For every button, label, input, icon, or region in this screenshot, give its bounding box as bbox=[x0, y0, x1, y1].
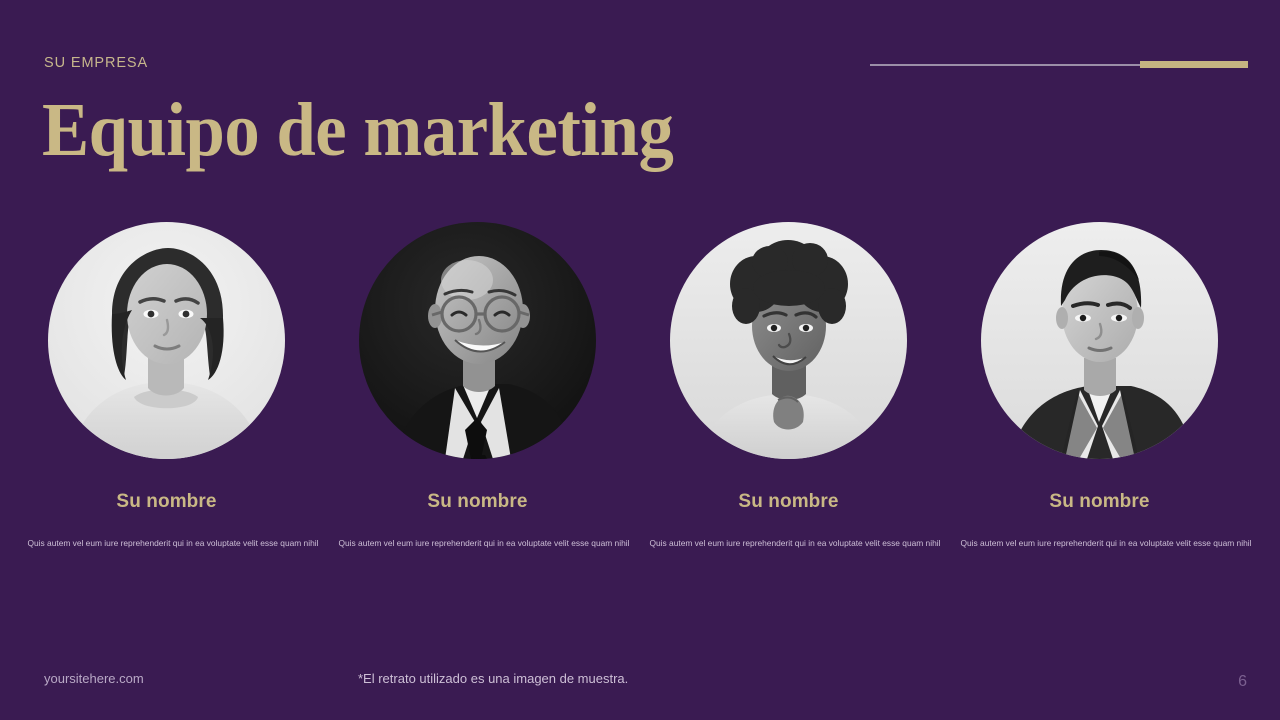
page-number: 6 bbox=[1238, 673, 1247, 691]
company-eyebrow: SU EMPRESA bbox=[44, 55, 148, 71]
slide-team-marketing: SU EMPRESA Equipo de marketing bbox=[0, 0, 1280, 720]
page-title: Equipo de marketing bbox=[42, 92, 673, 168]
member-name: Su nombre bbox=[116, 491, 216, 513]
member-description: Quis autem vel eum iure reprehenderit qu… bbox=[961, 538, 1239, 549]
member-name: Su nombre bbox=[1049, 491, 1149, 513]
site-url[interactable]: yoursitehere.com bbox=[44, 671, 144, 686]
team-member-card[interactable]: Su nombre Quis autem vel eum iure repreh… bbox=[322, 222, 633, 549]
member-description: Quis autem vel eum iure reprehenderit qu… bbox=[339, 538, 617, 549]
rule-gold-segment bbox=[1140, 61, 1248, 68]
disclaimer-note: *El retrato utilizado es una imagen de m… bbox=[358, 671, 628, 686]
avatar bbox=[359, 222, 596, 459]
member-description: Quis autem vel eum iure reprehenderit qu… bbox=[28, 538, 306, 549]
team-member-card[interactable]: Su nombre Quis autem vel eum iure repreh… bbox=[944, 222, 1255, 549]
member-name: Su nombre bbox=[738, 491, 838, 513]
member-name: Su nombre bbox=[427, 491, 527, 513]
team-member-card[interactable]: Su nombre Quis autem vel eum iure repreh… bbox=[633, 222, 944, 549]
member-description: Quis autem vel eum iure reprehenderit qu… bbox=[650, 538, 928, 549]
avatar bbox=[670, 222, 907, 459]
team-member-card[interactable]: Su nombre Quis autem vel eum iure repreh… bbox=[11, 222, 322, 549]
team-grid: Su nombre Quis autem vel eum iure repreh… bbox=[0, 222, 1280, 549]
avatar bbox=[981, 222, 1218, 459]
header-rule-accent-icon bbox=[870, 60, 1248, 70]
avatar bbox=[48, 222, 285, 459]
